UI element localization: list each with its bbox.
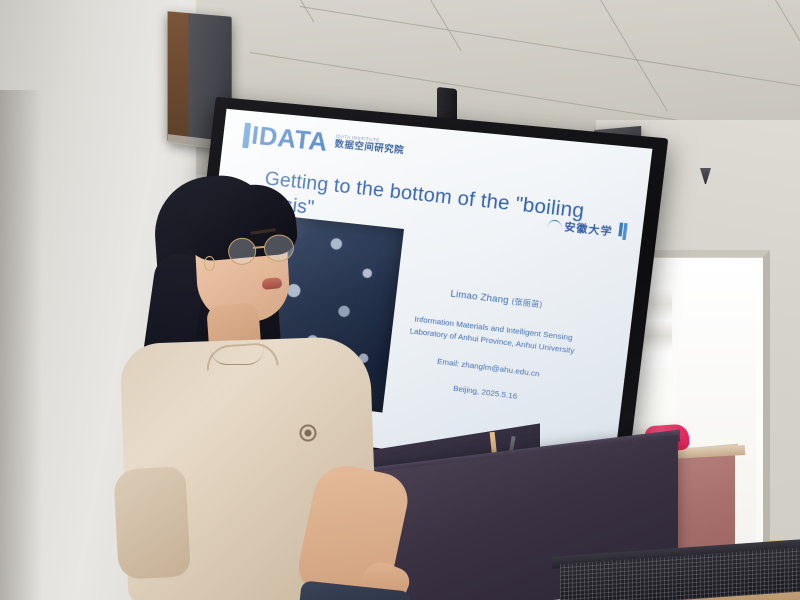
idata-wordmark: IDATA [242,123,329,156]
slide-byline: Limao Zhang (张丽苗) Information Materials … [370,280,615,412]
author-name: Limao Zhang [450,288,509,305]
idata-logo: IDATA IDATA INSTITUTE 数据空间研究院 [242,123,405,164]
presenter [110,168,390,600]
author-name-cn: (张丽苗) [511,296,543,309]
eyeglasses-icon [227,233,299,265]
necklace [210,348,264,365]
ahu-bars-icon [617,222,627,240]
speaker-face [168,11,189,144]
idata-logo-text: IDATA [250,123,329,156]
wall-shadow [0,90,42,600]
earring-icon [204,256,215,271]
idata-subtitle: IDATA INSTITUTE 数据空间研究院 [334,134,405,155]
shirt-graphic-icon [295,419,322,447]
lens-right [263,233,295,263]
left-sleeve [113,466,191,580]
presentation-room-photo: IDATA IDATA INSTITUTE 数据空间研究院 安徽大学 Getti… [0,0,800,600]
lens-left [227,237,257,266]
